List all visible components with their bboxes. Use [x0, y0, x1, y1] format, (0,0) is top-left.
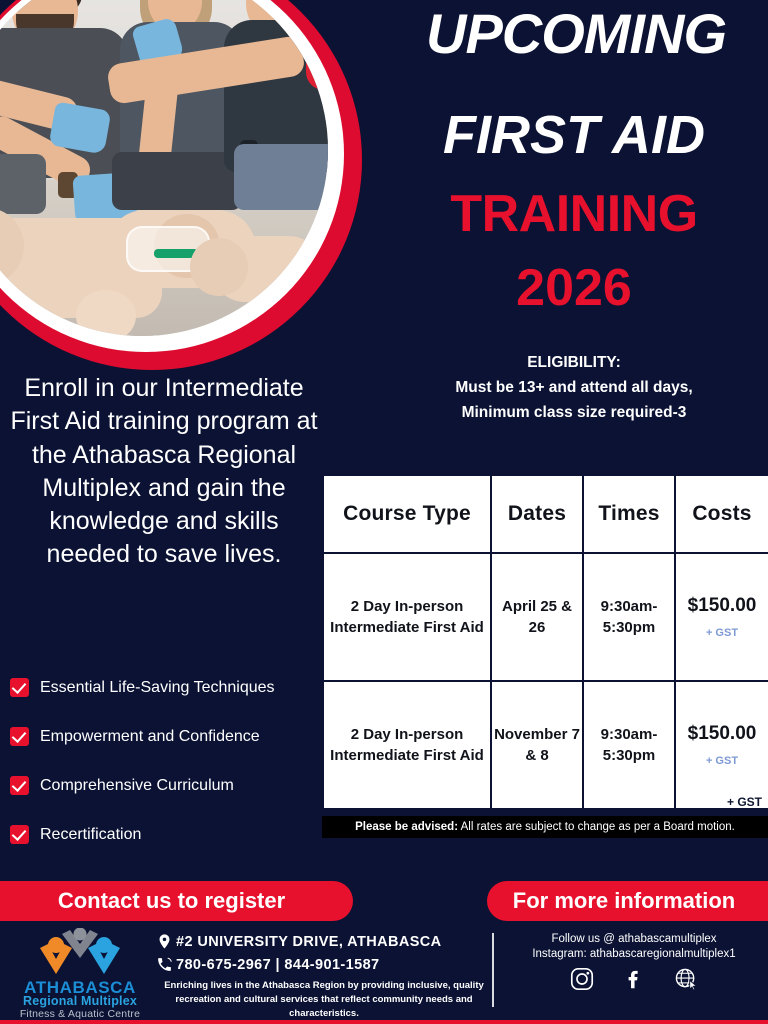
advisory-label: Please be advised:: [355, 821, 458, 833]
checkmark-icon: [10, 727, 29, 746]
hero-photo-circle: [0, 0, 362, 370]
eligibility-block: ELIGIBILITY: Must be 13+ and attend all …: [380, 350, 768, 425]
list-item: Comprehensive Curriculum: [10, 761, 330, 810]
column-header-times: Times: [583, 475, 675, 553]
list-item: Empowerment and Confidence: [10, 712, 330, 761]
multiplex-people-logo-icon: [32, 928, 128, 976]
phone-line: 780-675-2967 | 844-901-1587: [156, 956, 490, 973]
feature-label: Empowerment and Confidence: [40, 728, 260, 746]
social-icon-row: [505, 966, 763, 992]
table-row: 2 Day In-person Intermediate First Aid A…: [323, 553, 768, 681]
cost-gst-note: + GST: [676, 626, 768, 642]
cell-cost: $150.00 + GST: [675, 553, 768, 681]
cost-amount: $150.00: [676, 593, 768, 620]
headline-training: TRAINING: [380, 188, 768, 240]
cell-dates: November 7 & 8: [491, 681, 583, 809]
column-header-dates: Dates: [491, 475, 583, 553]
more-info-banner-label: For more information: [513, 888, 761, 914]
intro-paragraph: Enroll in our Intermediate First Aid tra…: [8, 372, 320, 572]
footer-divider: [492, 933, 494, 1007]
cost-gst-note: + GST: [676, 754, 768, 770]
schedule-table-wrapper: Course Type Dates Times Costs 2 Day In-p…: [322, 474, 768, 810]
eligibility-title: ELIGIBILITY:: [380, 350, 768, 375]
table-header-row: Course Type Dates Times Costs: [323, 475, 768, 553]
checkmark-icon: [10, 776, 29, 795]
headline-year: 2026: [380, 262, 768, 314]
feature-list: Essential Life-Saving Techniques Empower…: [10, 663, 330, 859]
social-block: Follow us @ athabascamultiplex Instagram…: [505, 933, 763, 992]
cell-dates: April 25 & 26: [491, 553, 583, 681]
feature-label: Recertification: [40, 826, 141, 844]
cpr-training-photo: [0, 0, 328, 336]
headline-first-aid: FIRST AID: [380, 108, 768, 162]
schedule-table: Course Type Dates Times Costs 2 Day In-p…: [322, 474, 768, 810]
poster-canvas: UPCOMING FIRST AID TRAINING 2026 ELIGIBI…: [0, 0, 768, 1024]
footer: ATHABASCA Regional Multiplex Fitness & A…: [0, 925, 768, 1024]
mission-statement: Enriching lives in the Athabasca Region …: [156, 979, 492, 1020]
headline-upcoming: UPCOMING: [384, 6, 768, 62]
address-line: #2 UNIVERSITY DRIVE, ATHABASCA: [156, 933, 490, 950]
cpr-manikin-face-floor: [76, 290, 136, 336]
follow-us-text: Follow us @ athabascamultiplex: [505, 933, 763, 945]
cell-course-type: 2 Day In-person Intermediate First Aid: [323, 681, 491, 809]
website-globe-icon[interactable]: [673, 966, 699, 992]
stray-gst-text: + GST: [727, 795, 762, 809]
advisory-text: All rates are subject to change as per a…: [458, 821, 735, 833]
athabasca-logo: ATHABASCA Regional Multiplex Fitness & A…: [14, 928, 146, 1020]
column-header-course-type: Course Type: [323, 475, 491, 553]
instagram-icon[interactable]: [569, 966, 595, 992]
phone-text: 780-675-2967 | 844-901-1587: [176, 957, 380, 973]
facebook-icon[interactable]: [621, 966, 647, 992]
list-item: Recertification: [10, 810, 330, 859]
column-header-costs: Costs: [675, 475, 768, 553]
cell-course-type: 2 Day In-person Intermediate First Aid: [323, 553, 491, 681]
eligibility-line-1: Must be 13+ and attend all days,: [380, 375, 768, 400]
table-row: 2 Day In-person Intermediate First Aid N…: [323, 681, 768, 809]
cell-cost: $150.00 + GST: [675, 681, 768, 809]
eligibility-line-2: Minimum class size required-3: [380, 400, 768, 425]
instagram-handle-text: Instagram: athabascaregionalmultiplex1: [505, 948, 763, 960]
cell-times: 9:30am-5:30pm: [583, 681, 675, 809]
cost-amount: $150.00: [676, 721, 768, 748]
location-pin-icon: [156, 933, 173, 950]
feature-label: Comprehensive Curriculum: [40, 777, 234, 795]
checkmark-icon: [10, 825, 29, 844]
feature-label: Essential Life-Saving Techniques: [40, 679, 275, 697]
logo-subtitle: Regional Multiplex: [14, 994, 146, 1008]
advisory-bar: Please be advised: All rates are subject…: [322, 816, 768, 838]
contact-banner[interactable]: Contact us to register: [0, 881, 353, 921]
address-text: #2 UNIVERSITY DRIVE, ATHABASCA: [176, 934, 442, 950]
more-info-banner[interactable]: For more information: [487, 881, 768, 921]
list-item: Essential Life-Saving Techniques: [10, 663, 330, 712]
contact-banner-label: Contact us to register: [38, 888, 285, 914]
cell-times: 9:30am-5:30pm: [583, 553, 675, 681]
cpr-manikin-infant-head: [190, 238, 248, 296]
checkmark-icon: [10, 678, 29, 697]
logo-tagline: Fitness & Aquatic Centre: [14, 1008, 146, 1020]
contact-details: #2 UNIVERSITY DRIVE, ATHABASCA 780-675-2…: [156, 933, 490, 1020]
headline-block: UPCOMING FIRST AID TRAINING 2026: [380, 6, 768, 314]
bottom-red-strip: [0, 1020, 768, 1024]
phone-icon: [156, 956, 173, 973]
